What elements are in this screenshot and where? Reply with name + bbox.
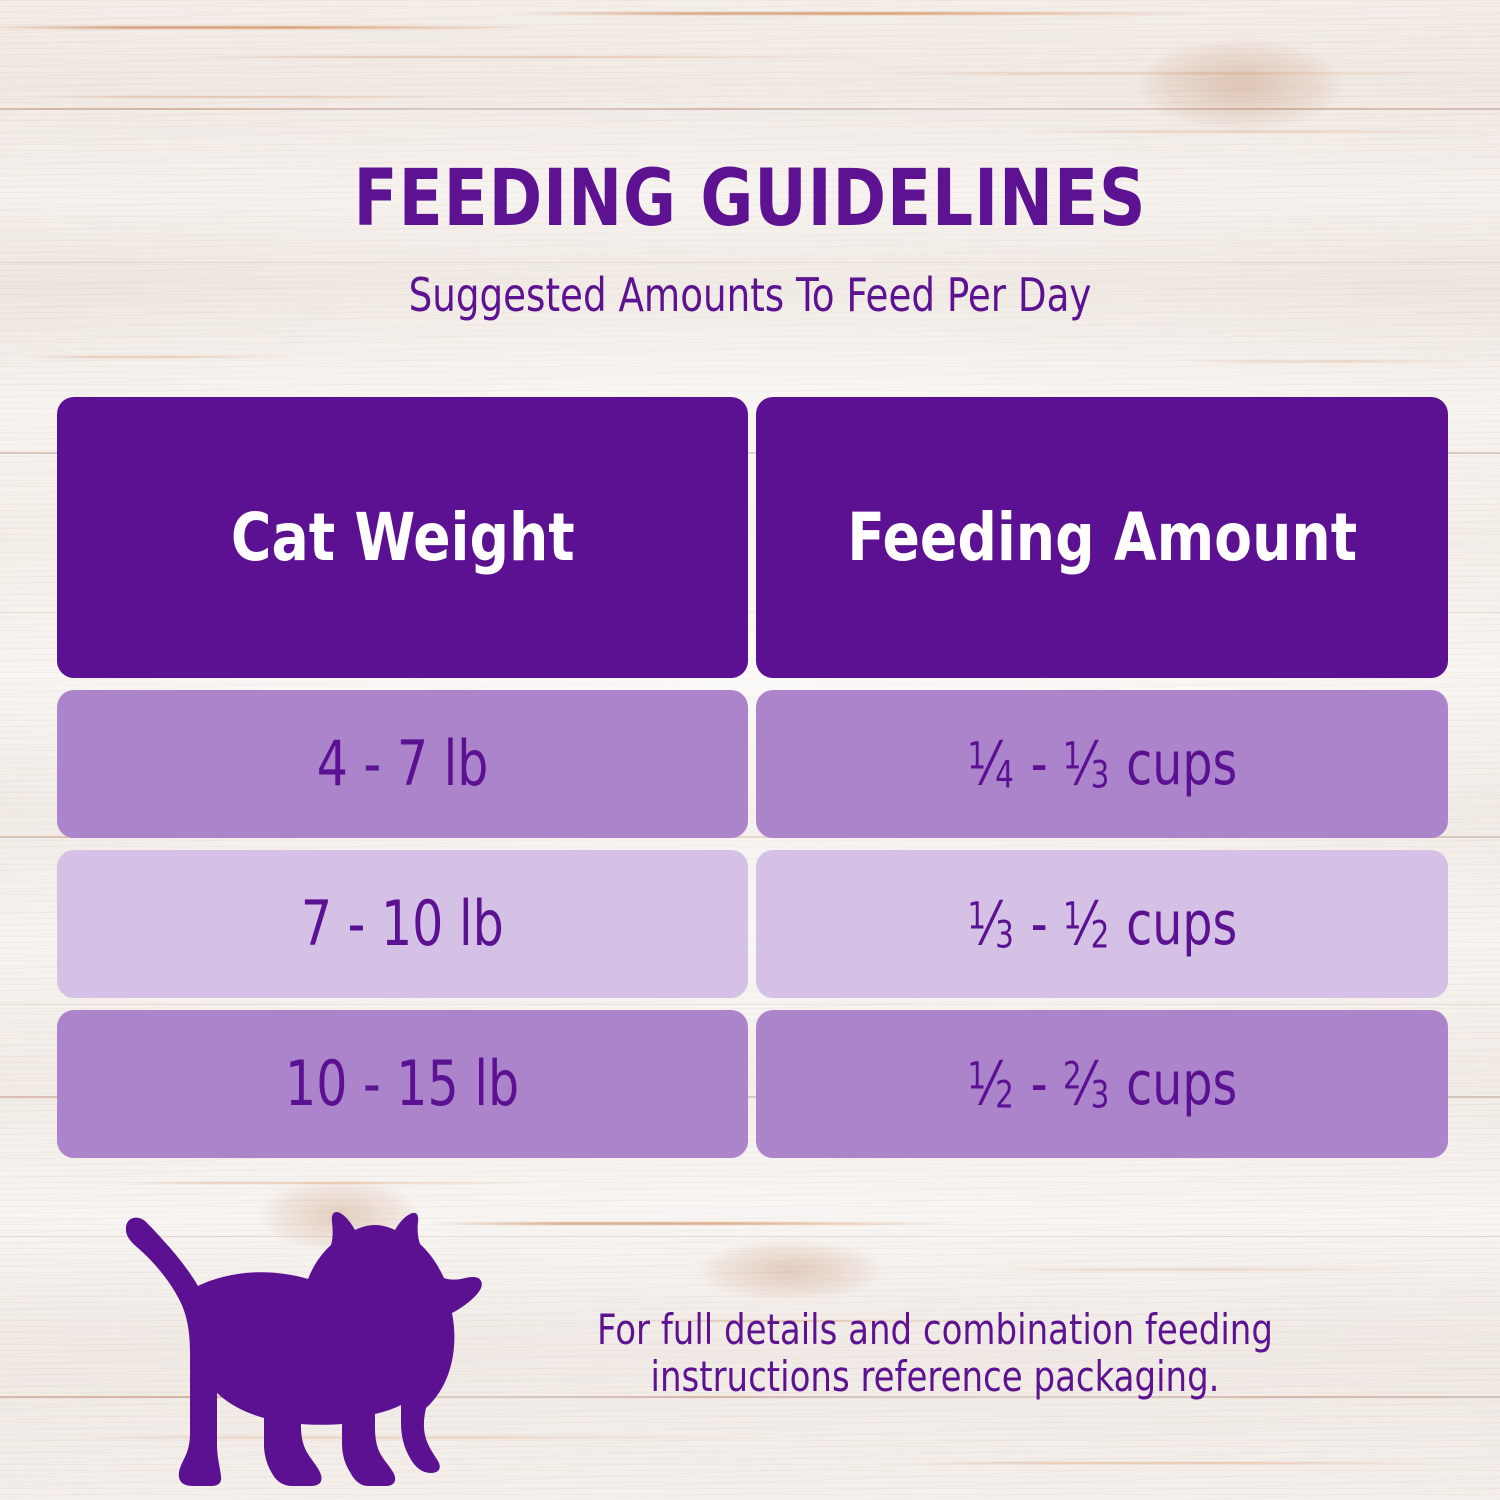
feeding-amount-value: 1⁄2 - 2⁄3 cups <box>967 1054 1237 1114</box>
cell-cat-weight: 7 - 10 lb <box>57 850 748 998</box>
cell-feeding-amount: 1⁄4 - 1⁄3 cups <box>756 690 1448 838</box>
fraction-slash-icon: ⁄ <box>1081 889 1090 959</box>
fraction-slash-icon: ⁄ <box>1081 729 1090 799</box>
feeding-amount-value: 1⁄3 - 1⁄2 cups <box>967 894 1237 954</box>
fraction-numerator: 1 <box>967 1053 986 1097</box>
fraction-from: 1⁄4 <box>967 734 1013 794</box>
fraction-to: 1⁄3 <box>1063 734 1109 794</box>
wood-streak <box>180 56 880 58</box>
fraction-from: 1⁄2 <box>967 1054 1013 1114</box>
fraction-denominator: 3 <box>995 913 1014 957</box>
wood-knot <box>700 1240 880 1300</box>
range-separator: - <box>1030 729 1047 799</box>
cat-weight-value: 7 - 10 lb <box>301 893 504 955</box>
fraction-denominator: 3 <box>1090 1073 1109 1117</box>
cat-silhouette-icon <box>118 1205 488 1495</box>
feeding-guidelines-page: FEEDING GUIDELINES Suggested Amounts To … <box>0 0 1500 1500</box>
wood-streak <box>20 356 300 358</box>
table-header-row: Cat Weight Feeding Amount <box>57 397 1448 678</box>
fraction-slash-icon: ⁄ <box>986 889 995 959</box>
fraction-numerator: 1 <box>1063 733 1082 777</box>
fraction-slash-icon: ⁄ <box>1081 1049 1090 1119</box>
wood-streak <box>1180 360 1480 363</box>
fraction-slash-icon: ⁄ <box>986 729 995 799</box>
range-separator: - <box>1030 1049 1047 1119</box>
wood-streak <box>0 26 540 29</box>
column-header-label: Feeding Amount <box>847 505 1357 571</box>
cat-weight-value: 4 - 7 lb <box>317 733 489 795</box>
footer-note: For full details and combination feeding… <box>562 1306 1309 1400</box>
footer-note-line-1: For full details and combination feeding <box>562 1306 1309 1353</box>
feeding-amount-value: 1⁄4 - 1⁄3 cups <box>967 734 1237 794</box>
fraction-numerator: 1 <box>1063 893 1082 937</box>
fraction-slash-icon: ⁄ <box>986 1049 995 1119</box>
feeding-guidelines-table: Cat Weight Feeding Amount 4 - 7 lb 1⁄4 -… <box>57 397 1448 1158</box>
fraction-numerator: 1 <box>967 733 986 777</box>
plank-divider <box>0 262 1500 263</box>
fraction-numerator: 1 <box>967 893 986 937</box>
wood-streak <box>1020 130 1500 133</box>
cell-feeding-amount: 1⁄3 - 1⁄2 cups <box>756 850 1448 998</box>
cat-weight-value: 10 - 15 lb <box>285 1053 519 1115</box>
wood-knot <box>1140 40 1340 130</box>
wood-streak <box>520 12 1200 15</box>
amount-unit: cups <box>1126 889 1237 959</box>
fraction-denominator: 4 <box>995 753 1014 797</box>
cell-cat-weight: 10 - 15 lb <box>57 1010 748 1158</box>
wood-streak <box>980 1268 1440 1271</box>
column-header-cat-weight: Cat Weight <box>57 397 748 678</box>
page-subtitle: Suggested Amounts To Feed Per Day <box>75 272 1425 318</box>
table-row: 7 - 10 lb 1⁄3 - 1⁄2 cups <box>57 850 1448 998</box>
cell-cat-weight: 4 - 7 lb <box>57 690 748 838</box>
fraction-denominator: 2 <box>1090 913 1109 957</box>
range-separator: - <box>1030 889 1047 959</box>
amount-unit: cups <box>1126 729 1237 799</box>
table-row: 10 - 15 lb 1⁄2 - 2⁄3 cups <box>57 1010 1448 1158</box>
wood-streak <box>40 96 460 98</box>
table-row: 4 - 7 lb 1⁄4 - 1⁄3 cups <box>57 690 1448 838</box>
wood-streak <box>430 1222 950 1225</box>
amount-unit: cups <box>1126 1049 1237 1119</box>
cell-feeding-amount: 1⁄2 - 2⁄3 cups <box>756 1010 1448 1158</box>
wood-streak <box>900 1462 1460 1464</box>
footer-note-line-2: instructions reference packaging. <box>562 1353 1309 1400</box>
column-header-label: Cat Weight <box>231 505 575 571</box>
fraction-denominator: 3 <box>1090 753 1109 797</box>
fraction-from: 1⁄3 <box>967 894 1013 954</box>
fraction-denominator: 2 <box>995 1073 1014 1117</box>
fraction-numerator: 2 <box>1063 1053 1082 1097</box>
page-title: FEEDING GUIDELINES <box>60 160 1440 238</box>
column-header-feeding-amount: Feeding Amount <box>756 397 1448 678</box>
fraction-to: 2⁄3 <box>1063 1054 1109 1114</box>
fraction-to: 1⁄2 <box>1063 894 1109 954</box>
